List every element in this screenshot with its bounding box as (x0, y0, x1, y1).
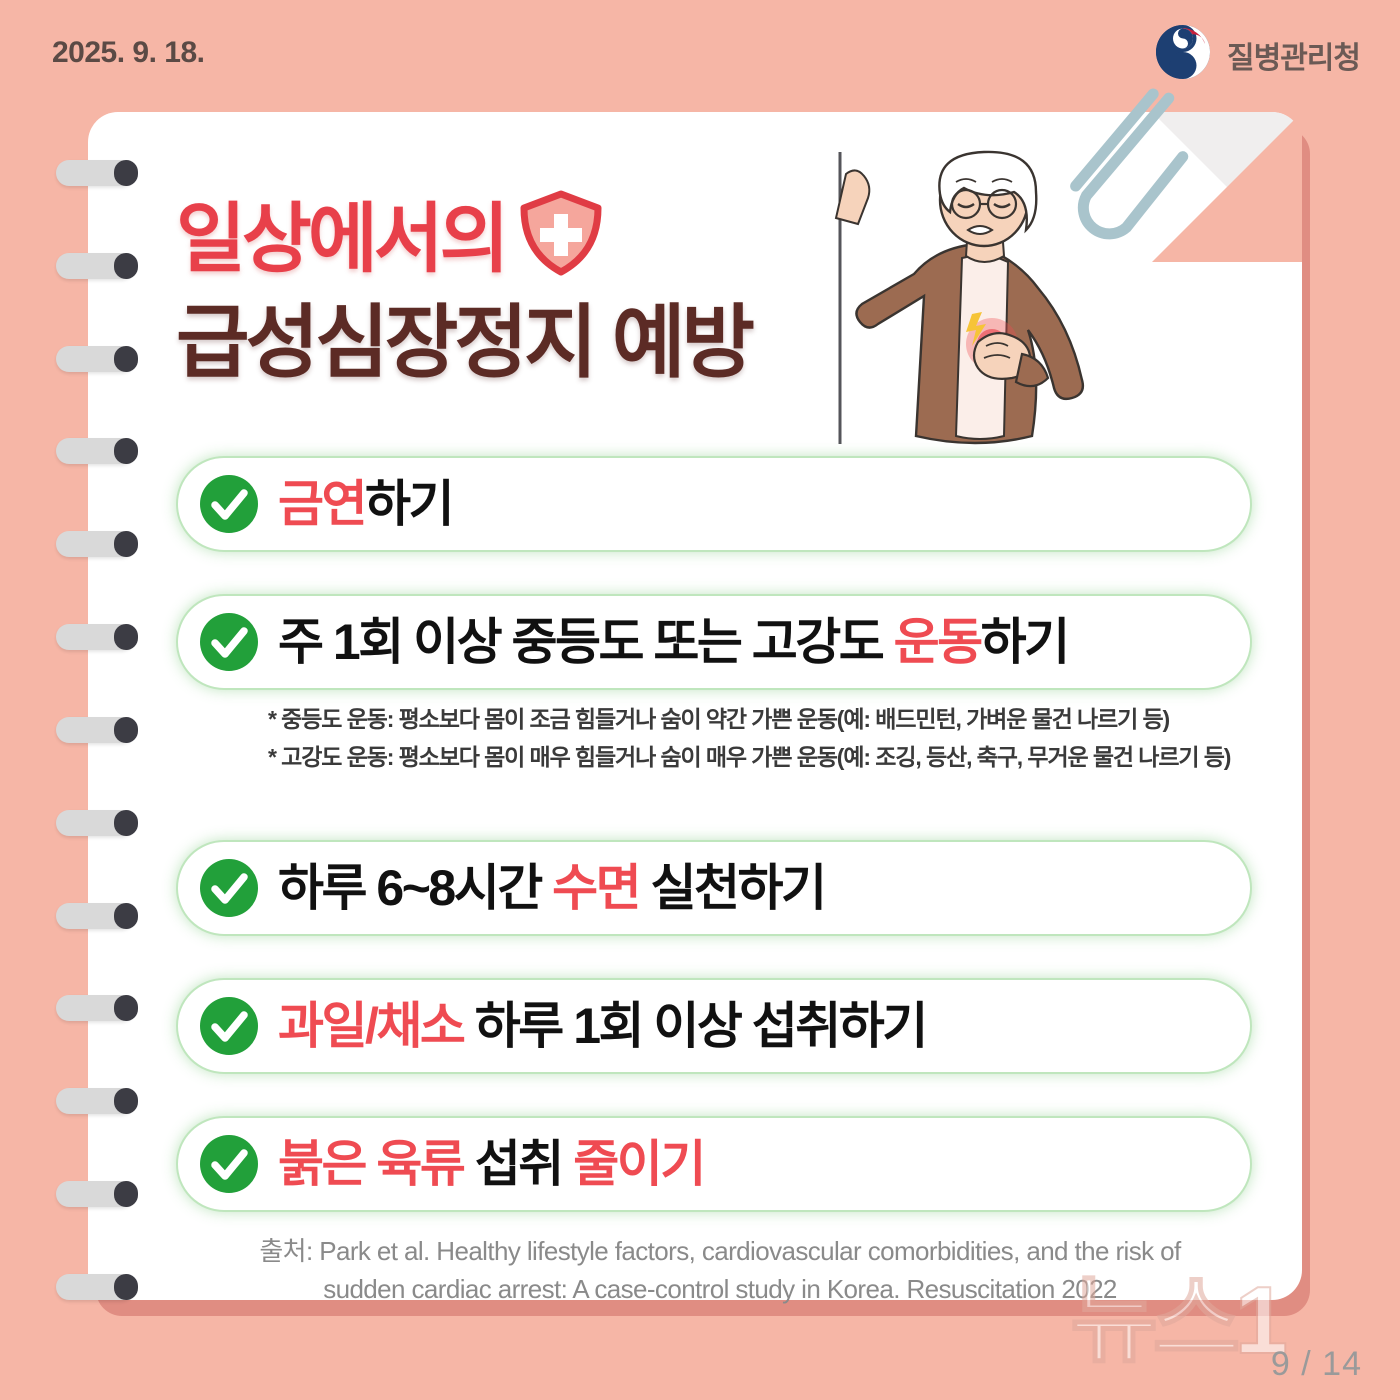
checklist-segment: 주 1회 이상 중등도 또는 고강도 (278, 614, 894, 670)
checklist-segment: 하루 6~8시간 (278, 860, 552, 916)
checklist-item-label: 주 1회 이상 중등도 또는 고강도 운동하기 (278, 617, 1068, 667)
checklist-item-sleep[interactable]: 하루 6~8시간 수면 실천하기 (176, 840, 1252, 936)
checklist-segment: 운동 (894, 614, 981, 670)
checklist-segment: 하루 1회 이상 섭취하기 (463, 998, 925, 1054)
checklist-segment: 하기 (981, 614, 1068, 670)
check-circle-icon (198, 857, 260, 919)
checklist-segment: 과일/채소 (278, 998, 463, 1054)
checklist-item-label: 금연하기 (278, 479, 452, 529)
checklist-item-label: 붉은 육류 섭취 줄이기 (278, 1139, 704, 1189)
shield-cross-icon (514, 186, 608, 294)
footnote-moderate-exercise: * 중등도 운동: 평소보다 몸이 조금 힘들거나 숨이 약간 가쁜 운동(예:… (268, 700, 1278, 738)
checklist-segment: 줄이기 (573, 1136, 704, 1192)
checklist-item-label: 하루 6~8시간 수면 실천하기 (278, 863, 825, 913)
binding-ring (56, 160, 134, 186)
checklist-segment: 실천하기 (639, 860, 824, 916)
checklist-segment: 금연 (278, 476, 365, 532)
spiral-binding-rings (56, 160, 156, 1300)
title-line-2: 급성심장정지 예방 (176, 302, 751, 384)
checklist-segment: 섭취 (463, 1136, 573, 1192)
source-citation: 출처: Park et al. Healthy lifestyle factor… (180, 1232, 1260, 1308)
binding-ring (56, 1274, 134, 1300)
page-header: 2025. 9. 18. 질병관리청 (0, 0, 1400, 106)
checklist-item-fruit-vegetable[interactable]: 과일/채소 하루 1회 이상 섭취하기 (176, 978, 1252, 1074)
binding-ring (56, 438, 134, 464)
title-line-1: 일상에서의 (176, 186, 751, 294)
check-circle-icon (198, 1133, 260, 1195)
checklist-item-label: 과일/채소 하루 1회 이상 섭취하기 (278, 1001, 926, 1051)
binding-ring (56, 346, 134, 372)
binding-ring (56, 995, 134, 1021)
date-label: 2025. 9. 18. (52, 36, 204, 70)
agency-name-label: 질병관리청 (1227, 33, 1360, 77)
binding-ring (56, 1181, 134, 1207)
binding-ring (56, 1088, 134, 1114)
agency-branding: 질병관리청 (1153, 22, 1360, 87)
binding-ring (56, 624, 134, 650)
binding-ring (56, 717, 134, 743)
check-circle-icon (198, 611, 260, 673)
binding-ring (56, 253, 134, 279)
checklist-segment: 붉은 육류 (278, 1136, 463, 1192)
check-circle-icon (198, 473, 260, 535)
source-line-2: sudden cardiac arrest: A case-control st… (180, 1270, 1260, 1308)
checklist-segment: 수면 (552, 860, 639, 916)
footnote-vigorous-exercise: * 고강도 운동: 평소보다 몸이 매우 힘들거나 숨이 매우 가쁜 운동(예:… (268, 738, 1278, 776)
page-title: 일상에서의 급성심장정지 예방 (176, 186, 751, 383)
checklist-item-red-meat[interactable]: 붉은 육류 섭취 줄이기 (176, 1116, 1252, 1212)
checklist-item-exercise[interactable]: 주 1회 이상 중등도 또는 고강도 운동하기 (176, 594, 1252, 690)
paperclip-icon (1040, 86, 1190, 261)
prevention-checklist: 금연하기 주 1회 이상 중등도 또는 고강도 운동하기 하루 6~8시간 수면… (176, 456, 1252, 1212)
page-indicator: 9 / 14 (1271, 1345, 1362, 1384)
binding-ring (56, 903, 134, 929)
checklist-segment: 하기 (365, 476, 452, 532)
checklist-item-smoking[interactable]: 금연하기 (176, 456, 1252, 552)
exercise-footnotes: * 중등도 운동: 평소보다 몸이 조금 힘들거나 숨이 약간 가쁜 운동(예:… (268, 700, 1278, 776)
check-circle-icon (198, 995, 260, 1057)
title-line-1-text: 일상에서의 (176, 201, 506, 279)
binding-ring (56, 810, 134, 836)
korea-government-taegeuk-logo-icon (1153, 22, 1213, 87)
binding-ring (56, 531, 134, 557)
source-line-1: 출처: Park et al. Healthy lifestyle factor… (180, 1232, 1260, 1270)
